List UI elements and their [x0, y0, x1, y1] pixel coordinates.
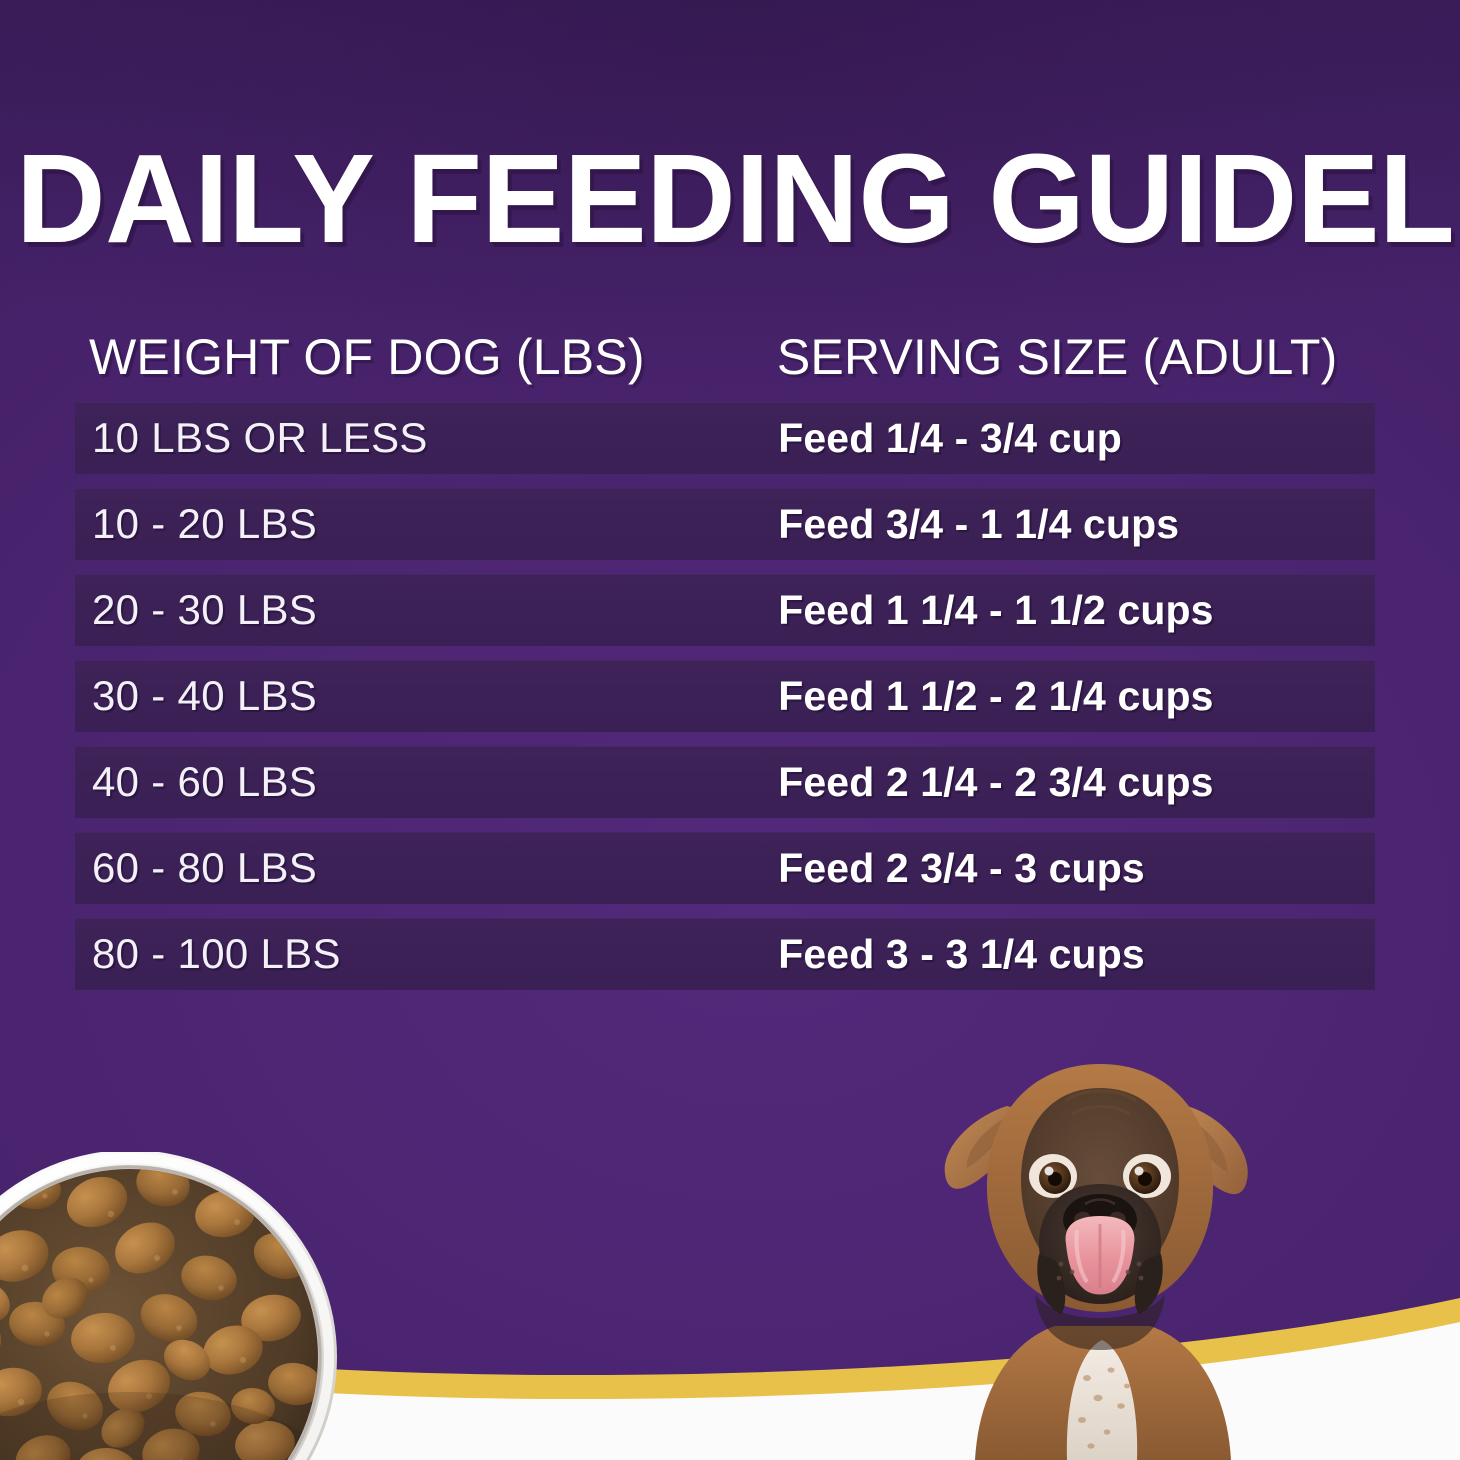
table-header-row: WEIGHT OF DOG (LBS) SERVING SIZE (ADULT)	[75, 332, 1375, 402]
column-header-serving: SERVING SIZE (ADULT)	[777, 332, 1375, 382]
cell-weight: 10 LBS OR LESS	[75, 417, 778, 459]
table-row: 10 LBS OR LESS Feed 1/4 - 3/4 cup	[75, 402, 1375, 474]
cell-serving: Feed 1 1/4 - 1 1/2 cups	[778, 590, 1375, 631]
cell-serving: Feed 1 1/2 - 2 1/4 cups	[778, 676, 1375, 717]
cell-serving: Feed 2 3/4 - 3 cups	[778, 848, 1375, 889]
table-row: 20 - 30 LBS Feed 1 1/4 - 1 1/2 cups	[75, 574, 1375, 646]
dog-photo	[935, 1058, 1265, 1460]
table-row: 30 - 40 LBS Feed 1 1/2 - 2 1/4 cups	[75, 660, 1375, 732]
column-header-weight: WEIGHT OF DOG (LBS)	[75, 332, 777, 382]
cell-weight: 40 - 60 LBS	[75, 761, 778, 803]
cell-weight: 80 - 100 LBS	[75, 933, 778, 975]
cell-weight: 10 - 20 LBS	[75, 503, 778, 545]
feeding-table: WEIGHT OF DOG (LBS) SERVING SIZE (ADULT)…	[75, 332, 1375, 1004]
table-row: 60 - 80 LBS Feed 2 3/4 - 3 cups	[75, 832, 1375, 904]
page-title: DAILY FEEDING GUIDELINES	[16, 136, 1434, 262]
cell-serving: Feed 2 1/4 - 2 3/4 cups	[778, 762, 1375, 803]
table-row: 40 - 60 LBS Feed 2 1/4 - 2 3/4 cups	[75, 746, 1375, 818]
cell-serving: Feed 1/4 - 3/4 cup	[778, 418, 1375, 459]
table-row: 10 - 20 LBS Feed 3/4 - 1 1/4 cups	[75, 488, 1375, 560]
cell-weight: 30 - 40 LBS	[75, 675, 778, 717]
cell-weight: 20 - 30 LBS	[75, 589, 778, 631]
table-row: 80 - 100 LBS Feed 3 - 3 1/4 cups	[75, 918, 1375, 990]
kibble-bowl-photo	[0, 1152, 355, 1460]
cell-serving: Feed 3 - 3 1/4 cups	[778, 934, 1375, 975]
feeding-guidelines-infographic: DAILY FEEDING GUIDELINES WEIGHT OF DOG (…	[0, 0, 1460, 1460]
cell-weight: 60 - 80 LBS	[75, 847, 778, 889]
cell-serving: Feed 3/4 - 1 1/4 cups	[778, 504, 1375, 545]
